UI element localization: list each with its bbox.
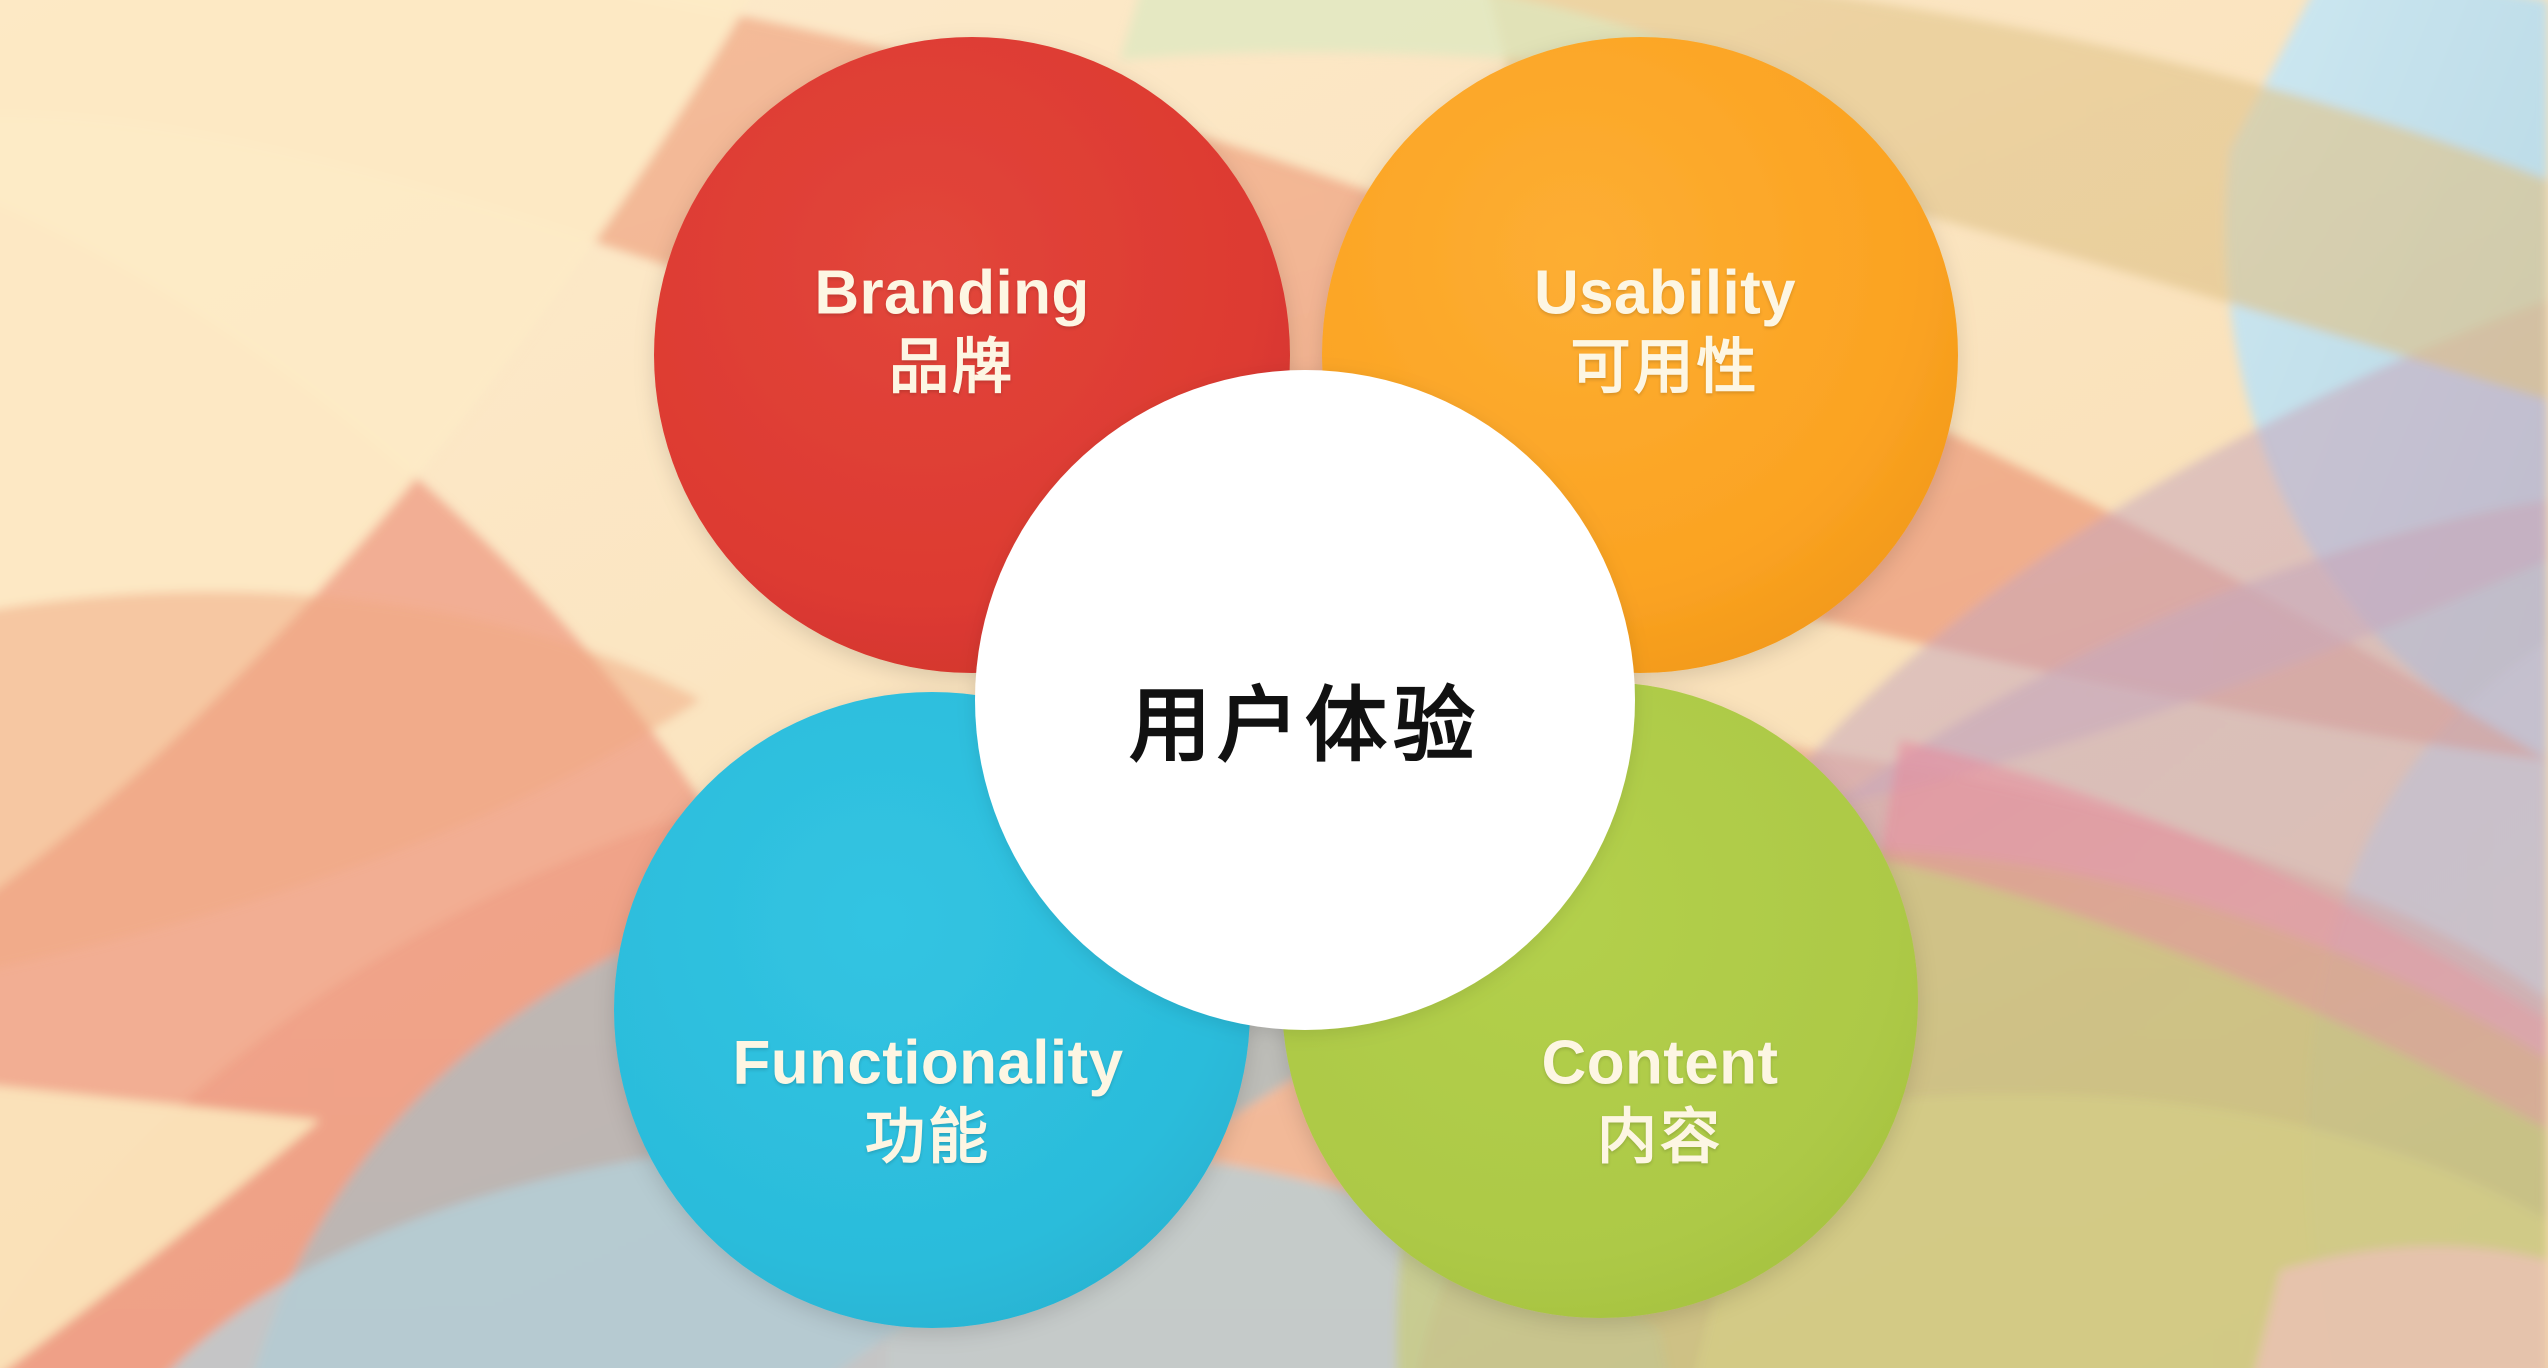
circle-user-experience-center[interactable]	[975, 370, 1635, 1030]
circle-group	[0, 0, 2548, 1368]
diagram-canvas: Branding 品牌 Usability 可用性 Functionality …	[0, 0, 2548, 1368]
